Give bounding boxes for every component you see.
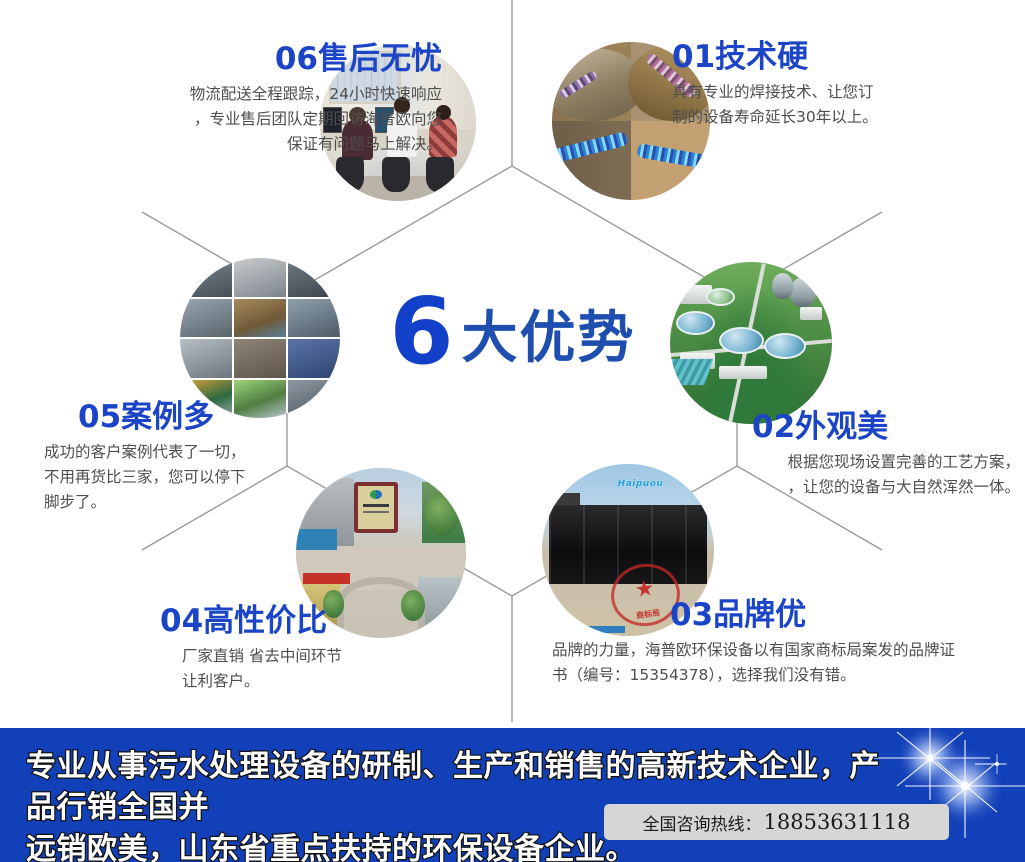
feature-image-05 [180, 258, 340, 418]
feature-desc-03: 品牌的力量，海普欧环保设备以有国家商标局案发的品牌证 书（编号：15354378… [530, 638, 1022, 688]
desc-line: 物流配送全程跟踪，24小时快速响应 [18, 82, 442, 107]
desc-line: 脚步了。 [44, 490, 316, 515]
desc-line: 成功的客户案例代表了一切， [44, 440, 316, 465]
brand-logo-text: Haipuou [618, 479, 680, 498]
center-suffix: 大优势 [462, 306, 636, 371]
feature-block-03: 03品牌优 品牌的力量，海普欧环保设备以有国家商标局案发的品牌证 书（编号：15… [530, 600, 1022, 688]
feature-title-03: 03品牌优 [530, 600, 1022, 631]
aerial-plant-photo [670, 262, 832, 424]
feature-desc-02: 根据您现场设置完善的工艺方案， ，让您的设备与大自然浑然一体。 [672, 450, 1020, 500]
desc-line: 让利客户。 [182, 669, 440, 694]
desc-line: ，专业售后团队定期回访海普欧向您 [18, 107, 442, 132]
hotline-label: 全国咨询热线： [643, 810, 762, 835]
desc-line: 品牌的力量，海普欧环保设备以有国家商标局案发的品牌证 [552, 638, 1022, 663]
feature-desc-01: 具有专业的焊接技术、让您订 制的设备寿命延长30年以上。 [672, 80, 1017, 130]
feature-title-02: 02外观美 [672, 412, 1020, 443]
desc-line: 保证有问题马上解决。 [18, 132, 442, 157]
feature-desc-04: 厂家直销 省去中间环节 让利客户。 [110, 644, 440, 694]
desc-line: 根据您现场设置完善的工艺方案， [672, 450, 1020, 475]
feature-block-04: 04高性价比 厂家直销 省去中间环节 让利客户。 [110, 606, 440, 694]
feature-title-05: 05案例多 [16, 402, 316, 433]
feature-block-02: 02外观美 根据您现场设置完善的工艺方案， ，让您的设备与大自然浑然一体。 [672, 412, 1020, 500]
feature-image-02 [670, 262, 832, 424]
desc-line: ，让您的设备与大自然浑然一体。 [672, 475, 1020, 500]
feature-title-06: 06售后无忧 [18, 44, 458, 75]
desc-line: 厂家直销 省去中间环节 [182, 644, 440, 669]
feature-block-05: 05案例多 成功的客户案例代表了一切， 不用再货比三家，您可以停下 脚步了。 [16, 402, 316, 515]
case-collage-photo [180, 258, 340, 418]
feature-desc-05: 成功的客户案例代表了一切， 不用再货比三家，您可以停下 脚步了。 [16, 440, 316, 515]
feature-block-01: 01技术硬 具有专业的焊接技术、让您订 制的设备寿命延长30年以上。 [672, 42, 1017, 130]
feature-desc-06: 物流配送全程跟踪，24小时快速响应 ，专业售后团队定期回访海普欧向您 保证有问题… [18, 82, 458, 157]
center-number: 6 [389, 278, 451, 385]
feature-block-06: 06售后无忧 物流配送全程跟踪，24小时快速响应 ，专业售后团队定期回访海普欧向… [18, 44, 458, 157]
hotline-box[interactable]: 全国咨询热线：18853631118 [604, 804, 949, 840]
bottom-banner: 专业从事污水处理设备的研制、生产和销售的高新技术企业，产品行销全国并 远销欧美，… [0, 728, 1025, 862]
center-title: 6大优势 [0, 286, 1025, 378]
desc-line: 具有专业的焊接技术、让您订 [672, 80, 1017, 105]
desc-line: 不用再货比三家，您可以停下 [44, 465, 316, 490]
feature-title-01: 01技术硬 [672, 42, 1017, 73]
hotline-number: 18853631118 [764, 810, 911, 834]
desc-line: 书（编号：15354378），选择我们没有错。 [552, 663, 1022, 688]
feature-title-04: 04高性价比 [110, 606, 440, 637]
desc-line: 制的设备寿命延长30年以上。 [672, 105, 1017, 130]
infographic-canvas: 6大优势 [0, 0, 1025, 862]
